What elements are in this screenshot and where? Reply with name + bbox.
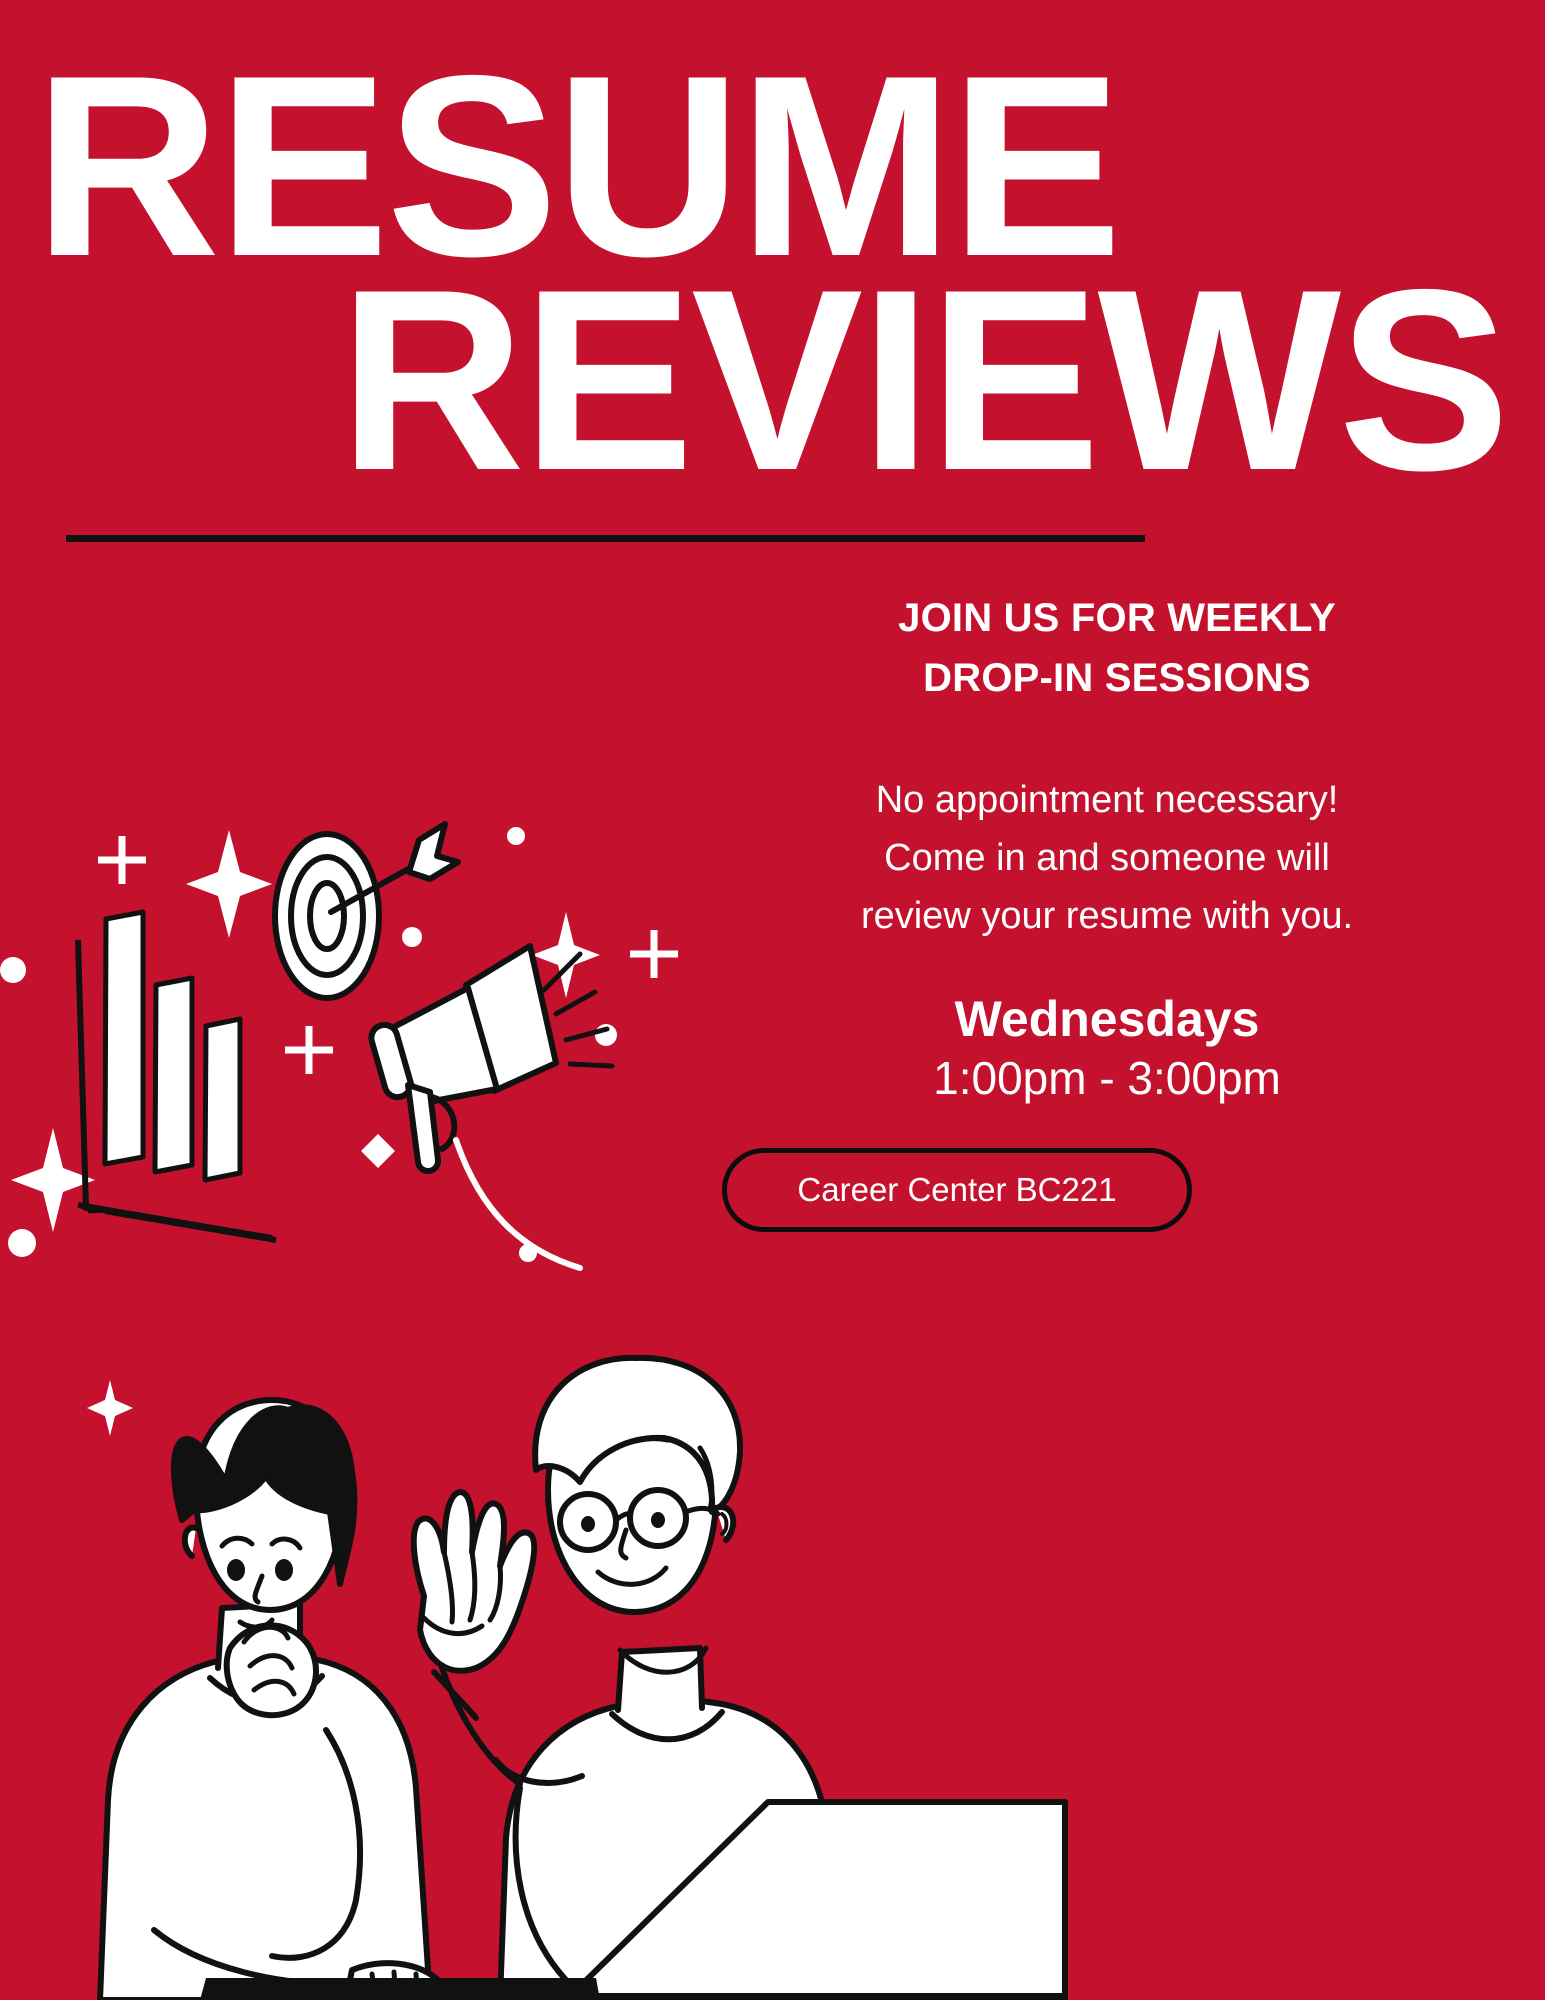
megaphone-icon bbox=[368, 946, 612, 1171]
plus-icon bbox=[98, 836, 146, 884]
dot-icon bbox=[595, 1024, 617, 1046]
subheading-line-1: JOIN US FOR WEEKLY bbox=[737, 588, 1497, 648]
dot-icon bbox=[519, 1244, 537, 1262]
dot-icon bbox=[507, 827, 525, 845]
body-text-block: No appointment necessary! Come in and so… bbox=[717, 772, 1497, 945]
schedule-day: Wednesdays bbox=[717, 990, 1497, 1048]
plus-icon bbox=[285, 1026, 333, 1074]
dot-icon bbox=[0, 957, 26, 983]
swoosh-line bbox=[456, 1140, 580, 1268]
poster-canvas: RESUME REVIEWS JOIN US FOR WEEKLY DROP-I… bbox=[0, 0, 1545, 2000]
plus-icon bbox=[630, 930, 678, 978]
subheading-line-2: DROP-IN SESSIONS bbox=[737, 648, 1497, 708]
location-pill-label: Career Center BC221 bbox=[797, 1171, 1116, 1209]
poster-title: RESUME REVIEWS bbox=[0, 60, 1545, 485]
bar-chart-icon bbox=[78, 912, 276, 1240]
diamond-icon bbox=[361, 1134, 395, 1168]
body-line-3: review your resume with you. bbox=[717, 888, 1497, 946]
dot-icon bbox=[402, 927, 422, 947]
target-with-arrow-icon bbox=[275, 824, 458, 998]
title-divider-rule bbox=[66, 535, 1145, 542]
person-thinking-illustration bbox=[100, 1400, 442, 2000]
body-line-1: No appointment necessary! bbox=[717, 772, 1497, 830]
sparkle-icon bbox=[11, 1128, 95, 1232]
subheading-block: JOIN US FOR WEEKLY DROP-IN SESSIONS bbox=[737, 588, 1497, 708]
location-pill-button[interactable]: Career Center BC221 bbox=[722, 1148, 1192, 1232]
sparkle-icon bbox=[186, 830, 272, 938]
laptop-illustration bbox=[200, 1802, 1065, 2000]
sparkle-icon bbox=[87, 1380, 133, 1436]
person-with-glasses-illustration bbox=[414, 1358, 840, 2000]
dot-icon bbox=[8, 1229, 36, 1257]
body-line-2: Come in and someone will bbox=[717, 830, 1497, 888]
sparkle-icon bbox=[532, 912, 600, 998]
dot-icon bbox=[216, 1525, 240, 1549]
schedule-time: 1:00pm - 3:00pm bbox=[717, 1052, 1497, 1105]
